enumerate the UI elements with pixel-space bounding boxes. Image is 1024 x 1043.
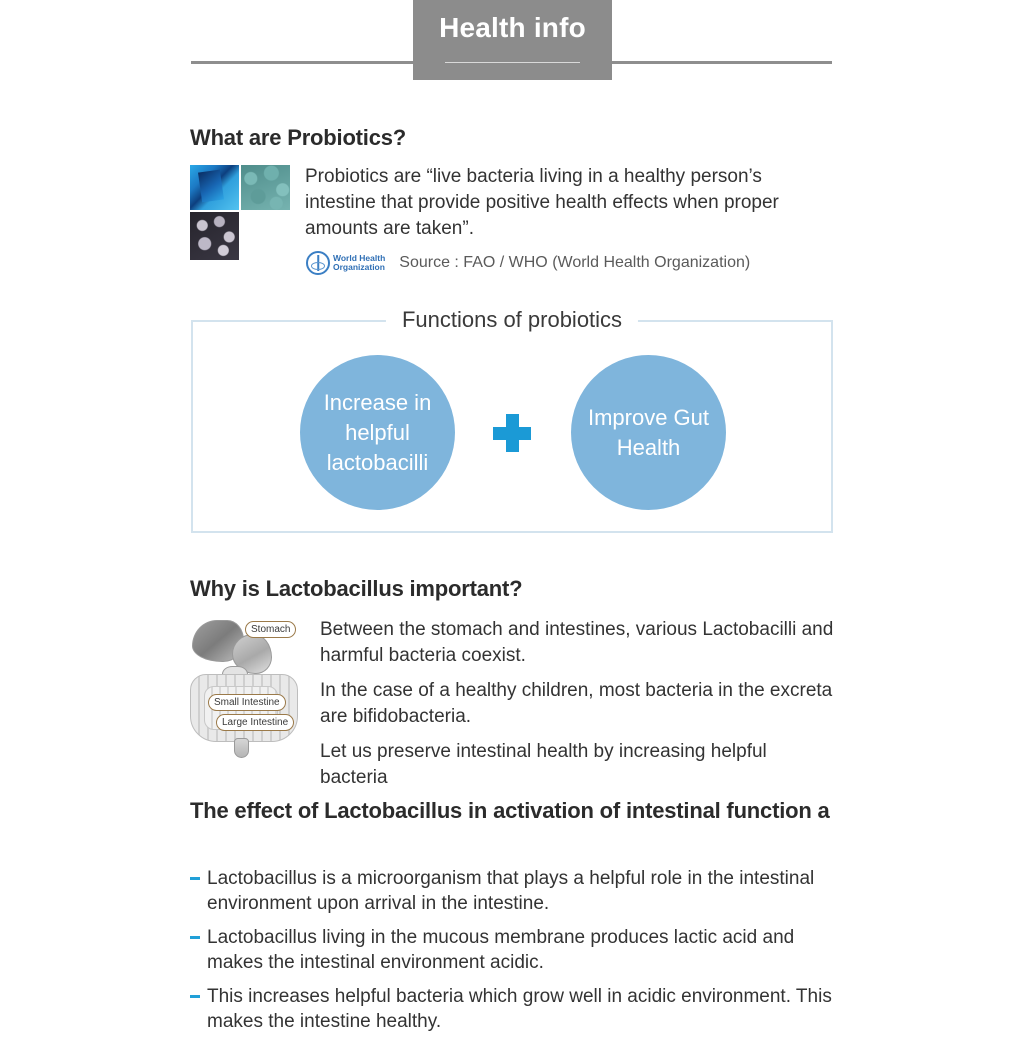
- digestive-system-diagram: Stomach Small Intestine Large Intestine: [188, 616, 306, 760]
- effect-bullet-list: Lactobacillus is a microorganism that pl…: [190, 866, 835, 1043]
- probiotics-image-collage: [190, 165, 292, 260]
- bacteria-teal-rods-micrograph: [241, 165, 290, 210]
- diagram-label-large-intestine: Large Intestine: [216, 714, 294, 731]
- who-logo-text: World Health Organization: [333, 254, 385, 273]
- dash-bullet-icon: [190, 936, 200, 939]
- probiotics-definition-text: Probiotics are “live bacteria living in …: [305, 164, 837, 242]
- probiotics-source-row: World Health Organization Source : FAO /…: [306, 251, 750, 275]
- who-emblem-icon: [306, 251, 330, 275]
- lactobacillus-body-text: Between the stomach and intestines, vari…: [320, 617, 838, 800]
- dash-bullet-icon: [190, 995, 200, 998]
- diagram-label-stomach: Stomach: [245, 621, 296, 638]
- page-title: Health info: [413, 12, 612, 44]
- bacteria-blue-crystal-micrograph: [190, 165, 239, 210]
- who-logo-line-2: Organization: [333, 263, 385, 273]
- bacteria-gray-cocci-micrograph: [190, 212, 239, 260]
- list-item-text: Lactobacillus living in the mucous membr…: [207, 927, 794, 973]
- function-circle-improve-gut-health: Improve Gut Health: [571, 355, 726, 510]
- list-item: This increases helpful bacteria which gr…: [190, 984, 835, 1034]
- lactobacillus-section-heading: Why is Lactobacillus important?: [190, 573, 522, 604]
- list-item-text: This increases helpful bacteria which gr…: [207, 986, 832, 1032]
- effect-section-heading: The effect of Lactobacillus in activatio…: [190, 795, 830, 826]
- lactobacillus-paragraph: In the case of a healthy children, most …: [320, 678, 838, 730]
- header-title-underline: [445, 62, 580, 63]
- health-info-infographic: Health info What are Probiotics? Probiot…: [0, 0, 1024, 1024]
- probiotics-section-heading: What are Probiotics?: [190, 122, 406, 153]
- list-item-text: Lactobacillus is a microorganism that pl…: [207, 868, 814, 914]
- diagram-label-small-intestine: Small Intestine: [208, 694, 286, 711]
- plus-icon-vertical-bar: [506, 414, 519, 452]
- list-item: Lactobacillus is a microorganism that pl…: [190, 866, 835, 916]
- source-attribution-text: Source : FAO / WHO (World Health Organiz…: [399, 254, 750, 272]
- page-header: Health info: [0, 0, 1024, 92]
- lactobacillus-paragraph: Let us preserve intestinal health by inc…: [320, 739, 838, 791]
- rectum-illustration: [234, 738, 249, 758]
- plus-icon: [493, 414, 531, 452]
- lactobacillus-paragraph: Between the stomach and intestines, vari…: [320, 617, 838, 669]
- dash-bullet-icon: [190, 877, 200, 880]
- functions-box-title: Functions of probiotics: [386, 305, 638, 335]
- header-title-box: Health info: [413, 0, 612, 80]
- who-logo: World Health Organization: [306, 251, 385, 275]
- list-item: Lactobacillus living in the mucous membr…: [190, 925, 835, 975]
- function-circle-increase-lactobacilli: Increase in helpful lactobacilli: [300, 355, 455, 510]
